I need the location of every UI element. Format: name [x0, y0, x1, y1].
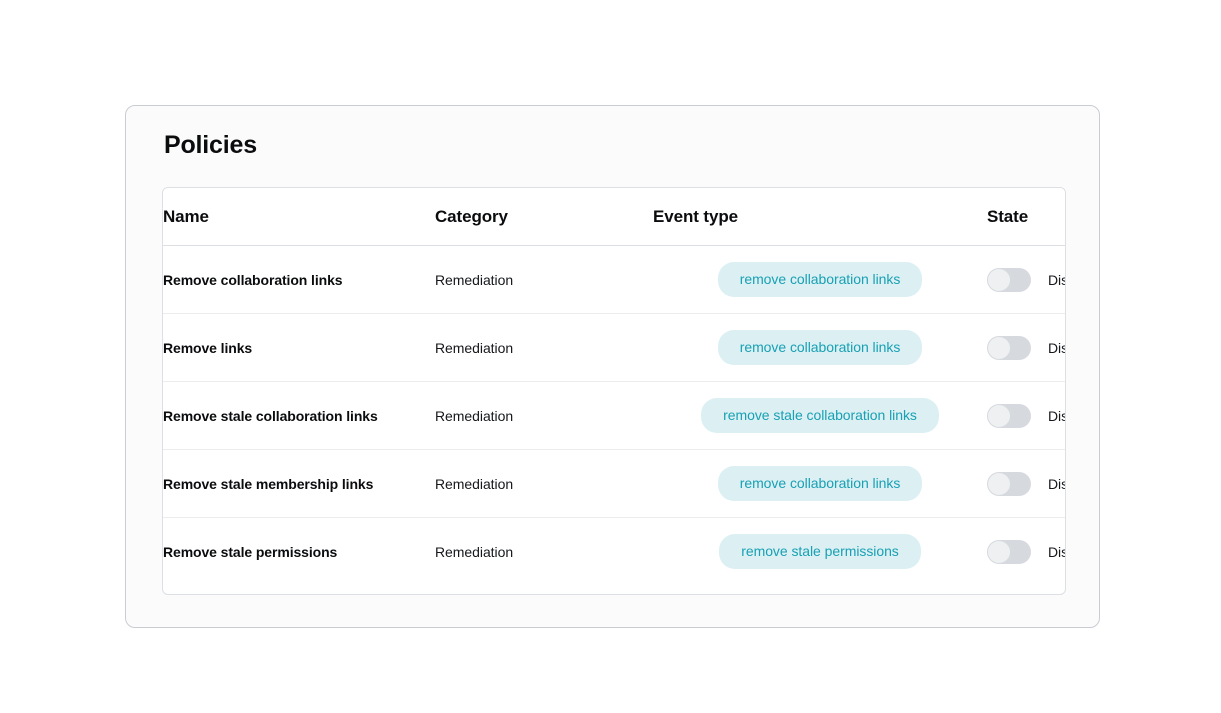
- column-header-state[interactable]: State: [987, 188, 1066, 246]
- state-toggle[interactable]: [987, 404, 1031, 428]
- policy-name: Remove collaboration links: [163, 246, 435, 314]
- state-label: Disabled: [1048, 340, 1066, 356]
- state-control-group: Disabled: [987, 404, 1066, 428]
- state-control-group: Disabled: [987, 472, 1066, 496]
- event-type-badge[interactable]: remove collaboration links: [718, 466, 923, 501]
- table-row[interactable]: Remove stale permissionsRemediationremov…: [163, 518, 1066, 586]
- event-type-badge[interactable]: remove stale permissions: [719, 534, 921, 569]
- table-row[interactable]: Remove linksRemediationremove collaborat…: [163, 314, 1066, 382]
- policy-state-cell: Disabled: [987, 450, 1066, 518]
- policies-card: Policies Name Category Event type State …: [125, 105, 1100, 628]
- toggle-knob: [988, 405, 1010, 427]
- state-toggle[interactable]: [987, 336, 1031, 360]
- state-control-group: Disabled: [987, 336, 1066, 360]
- table-header: Name Category Event type State: [163, 188, 1066, 246]
- table-body: Remove collaboration linksRemediationrem…: [163, 246, 1066, 586]
- policy-state-cell: Disabled: [987, 518, 1066, 586]
- state-toggle[interactable]: [987, 268, 1031, 292]
- policy-name: Remove stale collaboration links: [163, 382, 435, 450]
- toggle-knob: [988, 269, 1010, 291]
- column-header-name[interactable]: Name: [163, 188, 435, 246]
- table-row[interactable]: Remove stale collaboration linksRemediat…: [163, 382, 1066, 450]
- column-header-event-type[interactable]: Event type: [653, 188, 987, 246]
- state-toggle[interactable]: [987, 540, 1031, 564]
- state-toggle[interactable]: [987, 472, 1031, 496]
- toggle-knob: [988, 473, 1010, 495]
- column-header-category[interactable]: Category: [435, 188, 653, 246]
- page-title: Policies: [164, 133, 257, 158]
- policy-state-cell: Disabled: [987, 382, 1066, 450]
- policy-name: Remove stale membership links: [163, 450, 435, 518]
- policy-event-type-cell: remove stale collaboration links: [653, 382, 987, 450]
- toggle-knob: [988, 337, 1010, 359]
- event-type-badge[interactable]: remove collaboration links: [718, 262, 923, 297]
- policies-table: Name Category Event type State Remove co…: [163, 188, 1066, 586]
- policy-state-cell: Disabled: [987, 314, 1066, 382]
- table-row[interactable]: Remove stale membership linksRemediation…: [163, 450, 1066, 518]
- policy-category: Remediation: [435, 246, 653, 314]
- table-row[interactable]: Remove collaboration linksRemediationrem…: [163, 246, 1066, 314]
- policies-table-panel: Name Category Event type State Remove co…: [162, 187, 1066, 595]
- state-control-group: Disabled: [987, 540, 1066, 564]
- state-label: Disabled: [1048, 272, 1066, 288]
- state-control-group: Disabled: [987, 268, 1066, 292]
- state-label: Disabled: [1048, 408, 1066, 424]
- policy-event-type-cell: remove collaboration links: [653, 314, 987, 382]
- policy-state-cell: Disabled: [987, 246, 1066, 314]
- policy-category: Remediation: [435, 314, 653, 382]
- policy-event-type-cell: remove stale permissions: [653, 518, 987, 586]
- policy-category: Remediation: [435, 450, 653, 518]
- policy-category: Remediation: [435, 382, 653, 450]
- table-header-row: Name Category Event type State: [163, 188, 1066, 246]
- toggle-knob: [988, 541, 1010, 563]
- state-label: Disabled: [1048, 476, 1066, 492]
- policy-event-type-cell: remove collaboration links: [653, 450, 987, 518]
- event-type-badge[interactable]: remove collaboration links: [718, 330, 923, 365]
- policy-category: Remediation: [435, 518, 653, 586]
- state-label: Disabled: [1048, 544, 1066, 560]
- policy-event-type-cell: remove collaboration links: [653, 246, 987, 314]
- policy-name: Remove links: [163, 314, 435, 382]
- event-type-badge[interactable]: remove stale collaboration links: [701, 398, 939, 433]
- policy-name: Remove stale permissions: [163, 518, 435, 586]
